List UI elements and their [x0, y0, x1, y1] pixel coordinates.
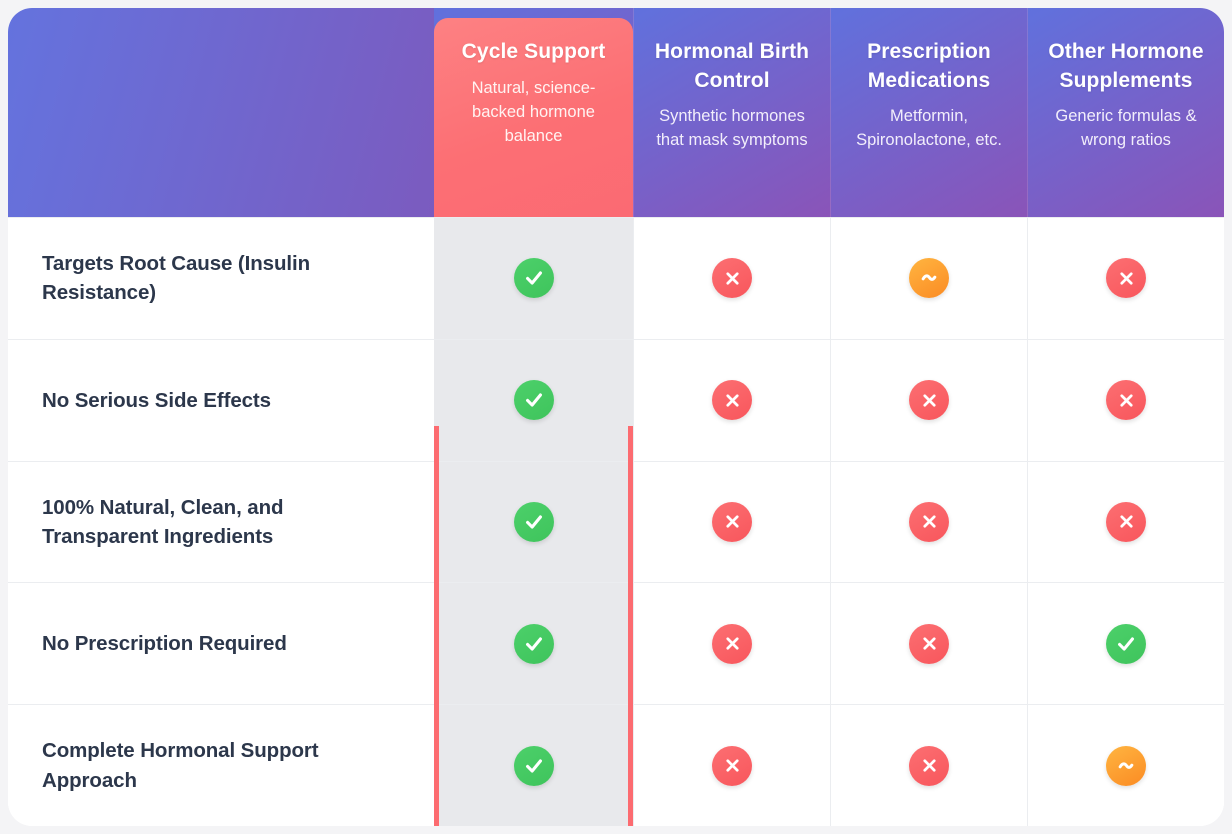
comparison-table: Hormonal Birth Control Synthetic hormone…: [8, 8, 1224, 826]
cell-prescription-medications: [830, 705, 1027, 826]
x-circle-icon: [712, 380, 752, 420]
x-circle-icon: [712, 258, 752, 298]
check-circle-icon: [514, 502, 554, 542]
check-circle-icon: [514, 258, 554, 298]
x-circle-icon: [712, 624, 752, 664]
cell-hormonal-birth-control: [633, 705, 830, 826]
x-circle-icon: [909, 380, 949, 420]
table-body: Targets Root Cause (Insulin Resistance) …: [8, 217, 1224, 826]
cell-cycle-support: [434, 462, 633, 583]
table-row: No Serious Side Effects: [8, 339, 1224, 461]
cell-other-hormone-supplements: [1027, 583, 1224, 704]
cell-cycle-support: [434, 340, 633, 461]
row-label: Targets Root Cause (Insulin Resistance): [8, 218, 434, 339]
cell-other-hormone-supplements: [1027, 340, 1224, 461]
cell-other-hormone-supplements: [1027, 705, 1224, 826]
cell-hormonal-birth-control: [633, 462, 830, 583]
cell-cycle-support: [434, 583, 633, 704]
check-circle-icon: [514, 624, 554, 664]
x-circle-icon: [909, 502, 949, 542]
header-subtitle: Metformin, Spironolactone, etc.: [841, 104, 1017, 152]
header-subtitle: Generic formulas & wrong ratios: [1038, 104, 1214, 152]
header-subtitle: Natural, science-backed hormone balance: [448, 76, 619, 148]
cell-hormonal-birth-control: [633, 340, 830, 461]
header-title: Hormonal Birth Control: [644, 38, 820, 95]
table-header-row: Hormonal Birth Control Synthetic hormone…: [8, 8, 1224, 217]
header-cell-label: [8, 8, 434, 217]
cell-other-hormone-supplements: [1027, 218, 1224, 339]
x-circle-icon: [1106, 380, 1146, 420]
row-label: 100% Natural, Clean, and Transparent Ing…: [8, 462, 434, 583]
cell-prescription-medications: [830, 218, 1027, 339]
header-subtitle: Synthetic hormones that mask symptoms: [644, 104, 820, 152]
row-label: No Prescription Required: [8, 583, 434, 704]
table-row: Targets Root Cause (Insulin Resistance): [8, 217, 1224, 339]
x-circle-icon: [1106, 258, 1146, 298]
check-circle-icon: [514, 746, 554, 786]
row-label: Complete Hormonal Support Approach: [8, 705, 434, 826]
check-circle-icon: [514, 380, 554, 420]
x-circle-icon: [712, 746, 752, 786]
x-circle-icon: [909, 624, 949, 664]
cell-cycle-support: [434, 218, 633, 339]
cell-other-hormone-supplements: [1027, 462, 1224, 583]
cell-hormonal-birth-control: [633, 583, 830, 704]
cell-prescription-medications: [830, 583, 1027, 704]
header-title: Other Hormone Supplements: [1038, 38, 1214, 95]
comparison-table-page: Hormonal Birth Control Synthetic hormone…: [0, 0, 1232, 834]
header-title: Cycle Support: [462, 38, 606, 67]
header-cell-cycle-support: Cycle Support Natural, science-backed ho…: [434, 18, 633, 217]
header-title: Prescription Medications: [841, 38, 1017, 95]
table-row: Complete Hormonal Support Approach: [8, 704, 1224, 826]
x-circle-icon: [1106, 502, 1146, 542]
table-row: 100% Natural, Clean, and Transparent Ing…: [8, 461, 1224, 583]
tilde-circle-icon: [1106, 746, 1146, 786]
row-label: No Serious Side Effects: [8, 340, 434, 461]
header-cell-hormonal-birth-control: Hormonal Birth Control Synthetic hormone…: [633, 8, 830, 217]
header-cell-prescription-medications: Prescription Medications Metformin, Spir…: [830, 8, 1027, 217]
tilde-circle-icon: [909, 258, 949, 298]
cell-prescription-medications: [830, 462, 1027, 583]
cell-prescription-medications: [830, 340, 1027, 461]
x-circle-icon: [712, 502, 752, 542]
check-circle-icon: [1106, 624, 1146, 664]
table-row: No Prescription Required: [8, 582, 1224, 704]
cell-hormonal-birth-control: [633, 218, 830, 339]
cell-cycle-support: [434, 705, 633, 826]
header-cell-other-hormone-supplements: Other Hormone Supplements Generic formul…: [1027, 8, 1224, 217]
x-circle-icon: [909, 746, 949, 786]
